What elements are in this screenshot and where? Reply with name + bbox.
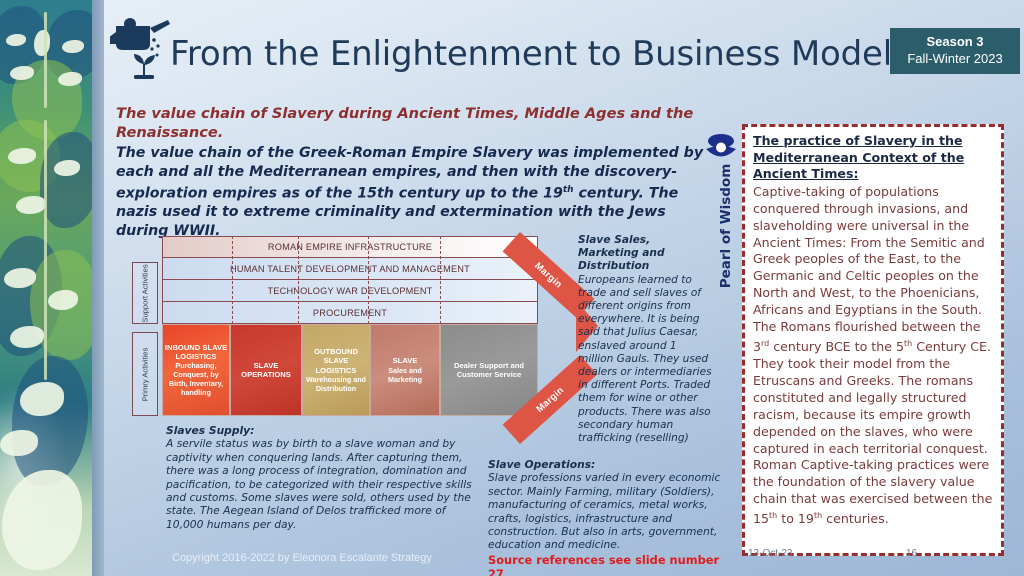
primary-activities-cells: INBOUND SLAVE LOGISTICS Purchasing, Conq… [162, 324, 538, 416]
note-p1: Captive-taking of populations conquered … [753, 184, 985, 354]
season-badge: Season 3 Fall-Winter 2023 [890, 28, 1020, 74]
primary-cell-3-title: SLAVE [393, 356, 418, 365]
primary-cell-sales-marketing: SLAVE Sales and Marketing [370, 324, 440, 416]
primary-cell-slave-operations: SLAVE OPERATIONS [230, 324, 302, 416]
subtitle-red: The value chain of Slavery during Ancien… [116, 104, 706, 142]
practice-of-slavery-note: The practice of Slavery in the Mediterra… [742, 124, 1004, 556]
primary-cell-2-title: OUTBOUND SLAVE LOGISTICS [304, 347, 368, 375]
margin-arrow: Margin Margin [520, 232, 584, 418]
slave-operations-block: Slave Operations: Slave professions vari… [488, 458, 728, 576]
support-divider-3 [368, 236, 369, 324]
season-badge-line2: Fall-Winter 2023 [890, 50, 1020, 68]
support-divider-2 [298, 236, 299, 324]
support-row-human-talent: HUMAN TALENT DEVELOPMENT AND MANAGEMENT [162, 258, 538, 280]
note-sup2: th [904, 339, 912, 348]
note-p2: century BCE to the 5 [769, 339, 904, 354]
subtitle-navy: The value chain of the Greek-Roman Empir… [116, 144, 716, 240]
slaves-supply-body: A servile status was by birth to a slave… [166, 437, 472, 530]
primary-activities-label: Primry Activities [132, 332, 158, 416]
slaves-supply-block: Slaves Supply: A servile status was by b… [166, 424, 484, 531]
slave-sales-body: Europeans learned to trade and sell slav… [578, 274, 712, 444]
watering-can-plant-icon [110, 18, 176, 82]
support-activities-label: Support Activities [132, 262, 158, 324]
primary-cell-1-title: SLAVE OPERATIONS [232, 361, 300, 379]
slave-operations-heading: Slave Operations: [488, 458, 728, 471]
note-sup1: rd [761, 339, 769, 348]
strip-edge-divider [92, 0, 104, 576]
slave-sales-heading: Slave Sales, Marketing and Distribution [578, 234, 712, 274]
primary-cell-2-sub: Warehousing and Distribution [304, 375, 368, 393]
primary-activities-text: Primry Activities [141, 347, 150, 401]
support-activities-rows: ROMAN EMPIRE INFRASTRUCTURE HUMAN TALENT… [162, 236, 538, 324]
primary-cell-inbound-logistics: INBOUND SLAVE LOGISTICS Purchasing, Conq… [162, 324, 230, 416]
primary-cell-outbound-logistics: OUTBOUND SLAVE LOGISTICS Warehousing and… [302, 324, 370, 416]
source-reference: Source references see slide number 27 [488, 553, 728, 576]
value-chain-diagram: Support Activities Primry Activities ROM… [132, 236, 580, 418]
support-row-procurement: PROCUREMENT [162, 302, 538, 324]
note-p3: Century CE. They took their model from t… [753, 339, 992, 526]
page-title: From the Enlightenment to Business Model… [170, 34, 910, 74]
slave-sales-block: Slave Sales, Marketing and Distribution … [578, 234, 712, 445]
primary-cell-0-sub: Purchasing, Conquest, by Birth, Inventar… [164, 361, 228, 397]
note-p4: to 19 [777, 511, 814, 526]
note-body: Captive-taking of populations conquered … [753, 184, 993, 529]
support-activities-text: Support Activities [141, 264, 150, 322]
primary-cell-3-sub: Sales and Marketing [372, 366, 438, 384]
support-row-technology: TECHNOLOGY WAR DEVELOPMENT [162, 280, 538, 302]
copyright-text: Copyright 2016-2022 by Eleonora Escalant… [172, 552, 432, 564]
note-title: The practice of Slavery in the Mediterra… [753, 133, 993, 183]
slaves-supply-heading: Slaves Supply: [166, 424, 484, 437]
decorative-leaf-strip [0, 0, 92, 576]
slide-header: From the Enlightenment to Business Model… [104, 0, 1024, 94]
subtitle-navy-sup: th [563, 185, 574, 195]
note-sup4: th [814, 511, 822, 520]
support-divider-4 [440, 236, 441, 324]
support-divider-1 [232, 236, 233, 324]
note-p5: centuries. [822, 511, 889, 526]
support-row-infrastructure: ROMAN EMPIRE INFRASTRUCTURE [162, 236, 538, 258]
primary-cell-0-title: INBOUND SLAVE LOGISTICS [164, 343, 228, 361]
slide-canvas: From the Enlightenment to Business Model… [0, 0, 1024, 576]
season-badge-line1: Season 3 [890, 33, 1020, 50]
pearl-of-wisdom-label: Pearl of Wisdom [718, 156, 734, 296]
footer-page-number: 16 [906, 548, 917, 559]
footer-date: 13-Oct-23 [748, 548, 792, 559]
slave-operations-body: Slave professions varied in every econom… [488, 471, 720, 551]
